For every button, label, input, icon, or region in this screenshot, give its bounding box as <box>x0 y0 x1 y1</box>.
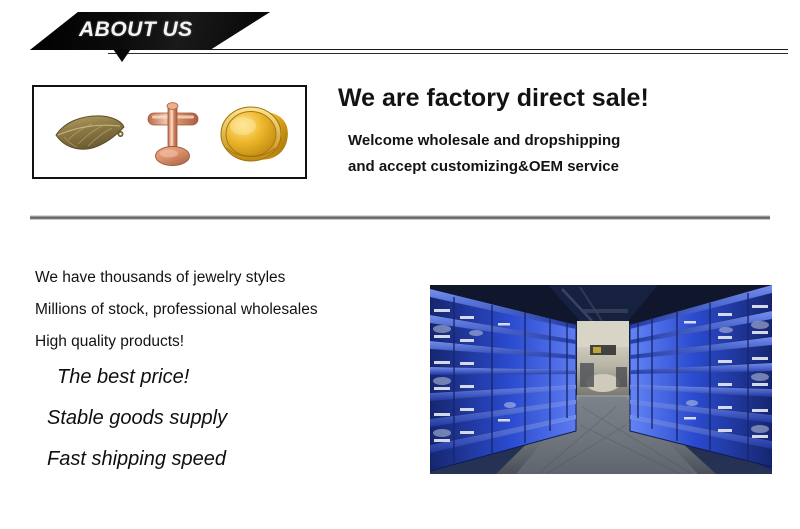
warehouse-illustration <box>430 285 772 474</box>
leaf-charm-icon <box>52 113 126 153</box>
product-showcase-image <box>32 85 307 179</box>
section-divider <box>30 215 770 220</box>
feature-fact-1: We have thousands of jewelry styles <box>35 269 285 287</box>
warehouse-photo <box>430 285 772 474</box>
headline: We are factory direct sale! <box>338 84 649 113</box>
feature-fact-2: Millions of stock, professional wholesal… <box>35 301 318 319</box>
page-title: ABOUT US <box>79 18 193 42</box>
cufflink-blank-icon <box>142 99 204 167</box>
subline-1: Welcome wholesale and dropshipping <box>348 132 620 149</box>
slogan-best-price: The best price! <box>57 366 189 389</box>
banner-notch-icon <box>113 49 131 62</box>
product-stage <box>34 87 305 177</box>
feature-fact-3: High quality products! <box>35 333 184 351</box>
slogan-stable-supply: Stable goods supply <box>47 407 227 430</box>
slogan-fast-shipping: Fast shipping speed <box>47 448 226 471</box>
subline-2: and accept customizing&OEM service <box>348 158 619 175</box>
about-us-banner: ABOUT US <box>0 0 800 70</box>
ring-blank-icon <box>219 100 289 166</box>
